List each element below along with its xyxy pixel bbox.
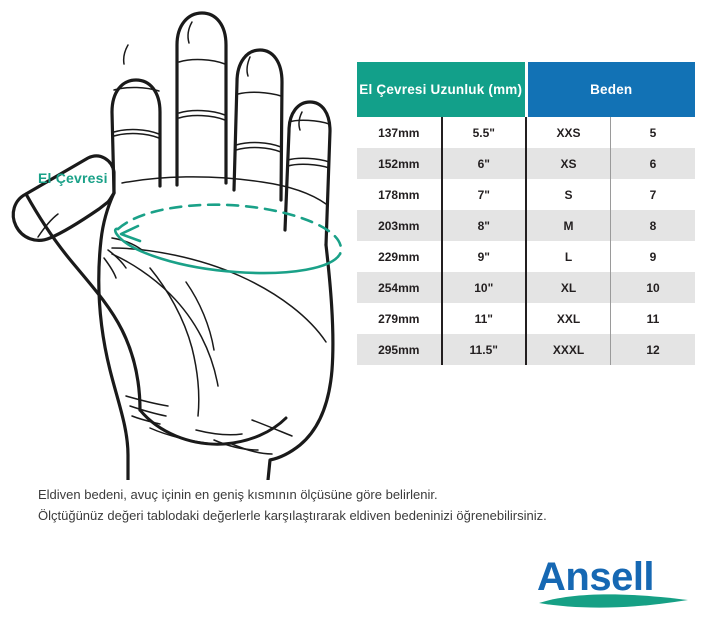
cell-circumference-inch: 10" xyxy=(442,272,527,303)
header-size: Beden xyxy=(526,62,695,117)
cell-size-label: XXL xyxy=(526,303,611,334)
ellipse-dashed-top xyxy=(118,205,341,254)
hand-measurement-diagram: El Çevresi xyxy=(0,0,355,480)
cell-circumference-inch: 5.5" xyxy=(442,117,527,148)
measurement-arrowhead xyxy=(121,226,140,241)
cell-circumference-mm: 279mm xyxy=(357,303,442,334)
size-table-header: El Çevresi Uzunluk (mm) Beden xyxy=(357,62,695,117)
cell-size-number: 5 xyxy=(611,117,696,148)
cell-size-number: 8 xyxy=(611,210,696,241)
table-row: 229mm9"L9 xyxy=(357,241,695,272)
cell-size-label: M xyxy=(526,210,611,241)
footnote-line-2: Ölçtüğünüz değeri tablodaki değerlerle k… xyxy=(38,505,678,526)
hand-circumference-label: El Çevresi xyxy=(38,170,108,186)
cell-size-label: XXXL xyxy=(526,334,611,365)
size-table-body: 137mm5.5"XXS5152mm6"XS6178mm7"S7203mm8"M… xyxy=(357,117,695,365)
table-row: 203mm8"M8 xyxy=(357,210,695,241)
circumference-ellipse xyxy=(115,205,341,273)
cell-size-label: L xyxy=(526,241,611,272)
cell-circumference-mm: 229mm xyxy=(357,241,442,272)
cell-circumference-mm: 295mm xyxy=(357,334,442,365)
ansell-logo: Ansell xyxy=(533,552,698,610)
cell-circumference-inch: 7" xyxy=(442,179,527,210)
cell-size-label: XS xyxy=(526,148,611,179)
cell-circumference-inch: 9" xyxy=(442,241,527,272)
cell-size-label: S xyxy=(526,179,611,210)
footnote: Eldiven bedeni, avuç içinin en geniş kıs… xyxy=(38,484,678,526)
cell-circumference-mm: 254mm xyxy=(357,272,442,303)
table-row: 178mm7"S7 xyxy=(357,179,695,210)
ansell-wordmark: Ansell xyxy=(537,555,654,599)
hand-crease-lines xyxy=(38,22,329,454)
cell-size-number: 12 xyxy=(611,334,696,365)
cell-circumference-mm: 178mm xyxy=(357,179,442,210)
table-row: 152mm6"XS6 xyxy=(357,148,695,179)
cell-size-number: 11 xyxy=(611,303,696,334)
table-header-row: El Çevresi Uzunluk (mm) Beden xyxy=(357,62,695,117)
cell-size-number: 7 xyxy=(611,179,696,210)
footnote-line-1: Eldiven bedeni, avuç içinin en geniş kıs… xyxy=(38,484,678,505)
cell-size-number: 10 xyxy=(611,272,696,303)
cell-circumference-inch: 6" xyxy=(442,148,527,179)
cell-circumference-mm: 203mm xyxy=(357,210,442,241)
cell-size-number: 6 xyxy=(611,148,696,179)
header-circumference: El Çevresi Uzunluk (mm) xyxy=(357,62,526,117)
table-row: 254mm10"XL10 xyxy=(357,272,695,303)
glove-size-table: El Çevresi Uzunluk (mm) Beden 137mm5.5"X… xyxy=(357,62,695,365)
cell-size-label: XL xyxy=(526,272,611,303)
table-row: 137mm5.5"XXS5 xyxy=(357,117,695,148)
cell-circumference-mm: 137mm xyxy=(357,117,442,148)
cell-size-label: XXS xyxy=(526,117,611,148)
hand-outline-group xyxy=(13,13,333,480)
cell-size-number: 9 xyxy=(611,241,696,272)
cell-circumference-inch: 11.5" xyxy=(442,334,527,365)
table-row: 279mm11"XXL11 xyxy=(357,303,695,334)
cell-circumference-inch: 8" xyxy=(442,210,527,241)
table-row: 295mm11.5"XXXL12 xyxy=(357,334,695,365)
cell-circumference-inch: 11" xyxy=(442,303,527,334)
cell-circumference-mm: 152mm xyxy=(357,148,442,179)
